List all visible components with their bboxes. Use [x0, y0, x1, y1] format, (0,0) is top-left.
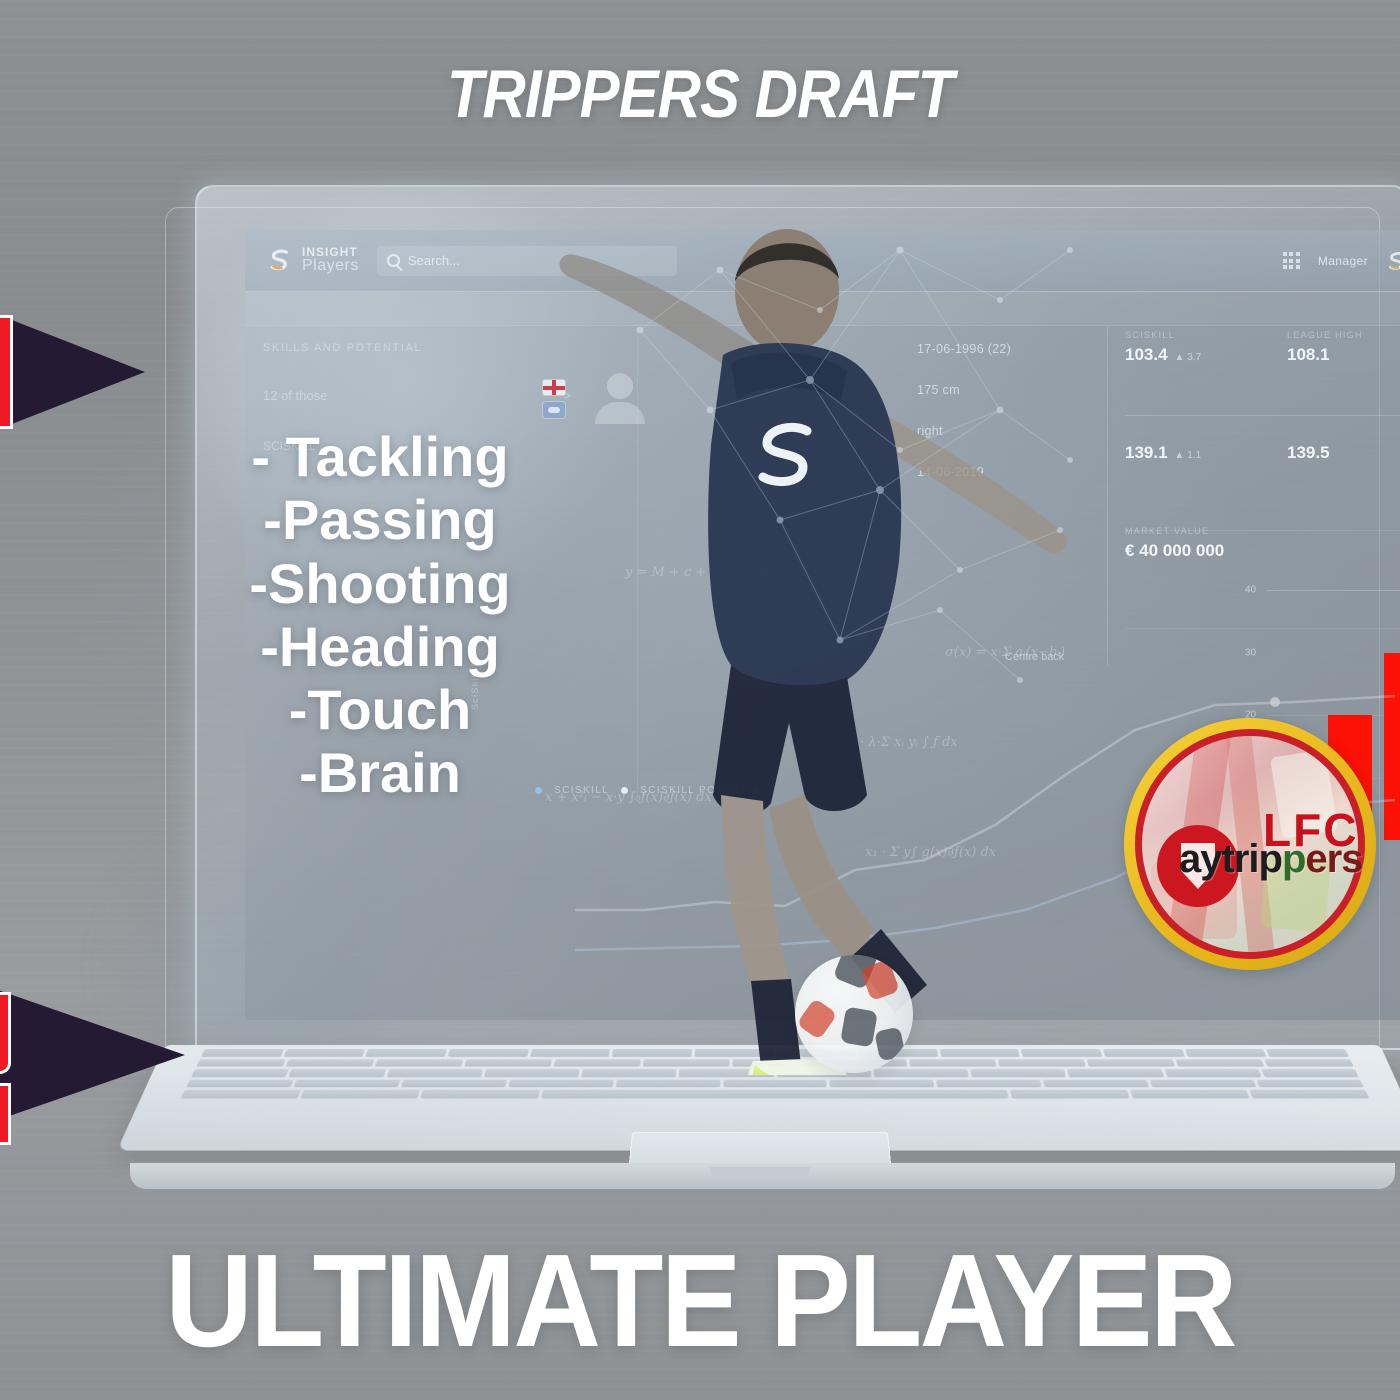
manager-label[interactable]: Manager [1318, 254, 1368, 268]
lfc-daytrippers-logo[interactable]: LFC aytrippers [1124, 718, 1376, 970]
logo-inner-ring: LFC aytrippers [1135, 729, 1365, 959]
stat-sciskill-number: 103.4 [1125, 345, 1168, 364]
arrow-marker-bottom [0, 963, 185, 1147]
bottom-banner-text: ULTIMATE PLAYER [165, 1238, 1235, 1365]
panel-row-label: 12 of those [263, 388, 327, 403]
poster-canvas: INSIGHT Players Search... Manager [0, 0, 1400, 1400]
stat-league-high: LEAGUE HIGH 108.1 [1287, 330, 1363, 365]
grid-apps-icon[interactable] [1283, 252, 1300, 269]
stat-league-high-label: LEAGUE HIGH [1287, 330, 1363, 340]
stat-league-top: 139.5 [1287, 443, 1330, 463]
red-accent-top [0, 318, 10, 426]
stat-potential-number: 139.1 [1125, 443, 1168, 462]
red-accent-bottom [0, 1086, 8, 1142]
logo-day-part-b: p [1282, 837, 1305, 881]
insight-s-icon [267, 247, 293, 273]
stat-sciskill-label: SCISKILL [1125, 330, 1201, 340]
logo-daytrippers-text: aytrippers [1179, 837, 1362, 882]
key-row-4 [186, 1080, 1364, 1088]
search-icon [387, 254, 400, 267]
stat-sciskill-delta: ▲ 3.7 [1175, 352, 1202, 363]
stat-potential-delta: ▲ 1.1 [1175, 450, 1202, 461]
key-row-5 [181, 1090, 1370, 1098]
network-overlay [600, 210, 1120, 770]
stat-market-value-label: MARKET VALUE [1125, 526, 1224, 536]
logo-day-part-c: ers [1305, 837, 1362, 881]
stats-hr-1 [1125, 415, 1400, 416]
skill-item-passing: -Passing [180, 488, 580, 551]
line-chart-point [1270, 697, 1280, 707]
player-right-leg [769, 795, 875, 963]
red-accent-mid [0, 995, 8, 1071]
stat-sciskill-value: 103.4▲ 3.7 [1125, 345, 1201, 365]
page-title: TRIPPERS DRAFT [84, 55, 1316, 133]
skills-list: - Tackling -Passing -Shooting -Heading -… [180, 425, 580, 805]
skill-item-touch: -Touch [180, 678, 580, 741]
arrow-marker-top [0, 288, 145, 456]
stat-sciskill: SCISKILL 103.4▲ 3.7 [1125, 330, 1201, 365]
stat-market-value: MARKET VALUE € 40 000 000 [1125, 526, 1224, 561]
search-placeholder: Search... [408, 253, 460, 268]
skill-item-brain: -Brain [180, 741, 580, 804]
logo-day-part-a: aytrip [1179, 837, 1282, 881]
app-logo[interactable]: INSIGHT Players [267, 246, 359, 275]
stat-potential-value: 139.1▲ 1.1 [1125, 443, 1201, 463]
soccer-ball [795, 955, 913, 1073]
stat-league-high-value: 108.1 [1287, 345, 1363, 365]
panel-heading: SKILLS AND POTENTIAL [263, 342, 593, 354]
brand-line-2: Players [302, 258, 359, 275]
stat-potential: 139.1▲ 1.1 [1125, 443, 1201, 463]
account-s-icon[interactable] [1386, 250, 1400, 272]
skill-item-heading: -Heading [180, 615, 580, 678]
y-tick-40: 40 [1245, 585, 1256, 596]
laptop-notch [710, 1167, 810, 1176]
skill-item-shooting: -Shooting [180, 552, 580, 615]
skill-item-tackling: - Tackling [180, 425, 580, 488]
stat-market-value-amount: € 40 000 000 [1125, 541, 1224, 561]
player-sock-left [751, 979, 801, 1067]
stat-league-top-value: 139.5 [1287, 443, 1330, 463]
